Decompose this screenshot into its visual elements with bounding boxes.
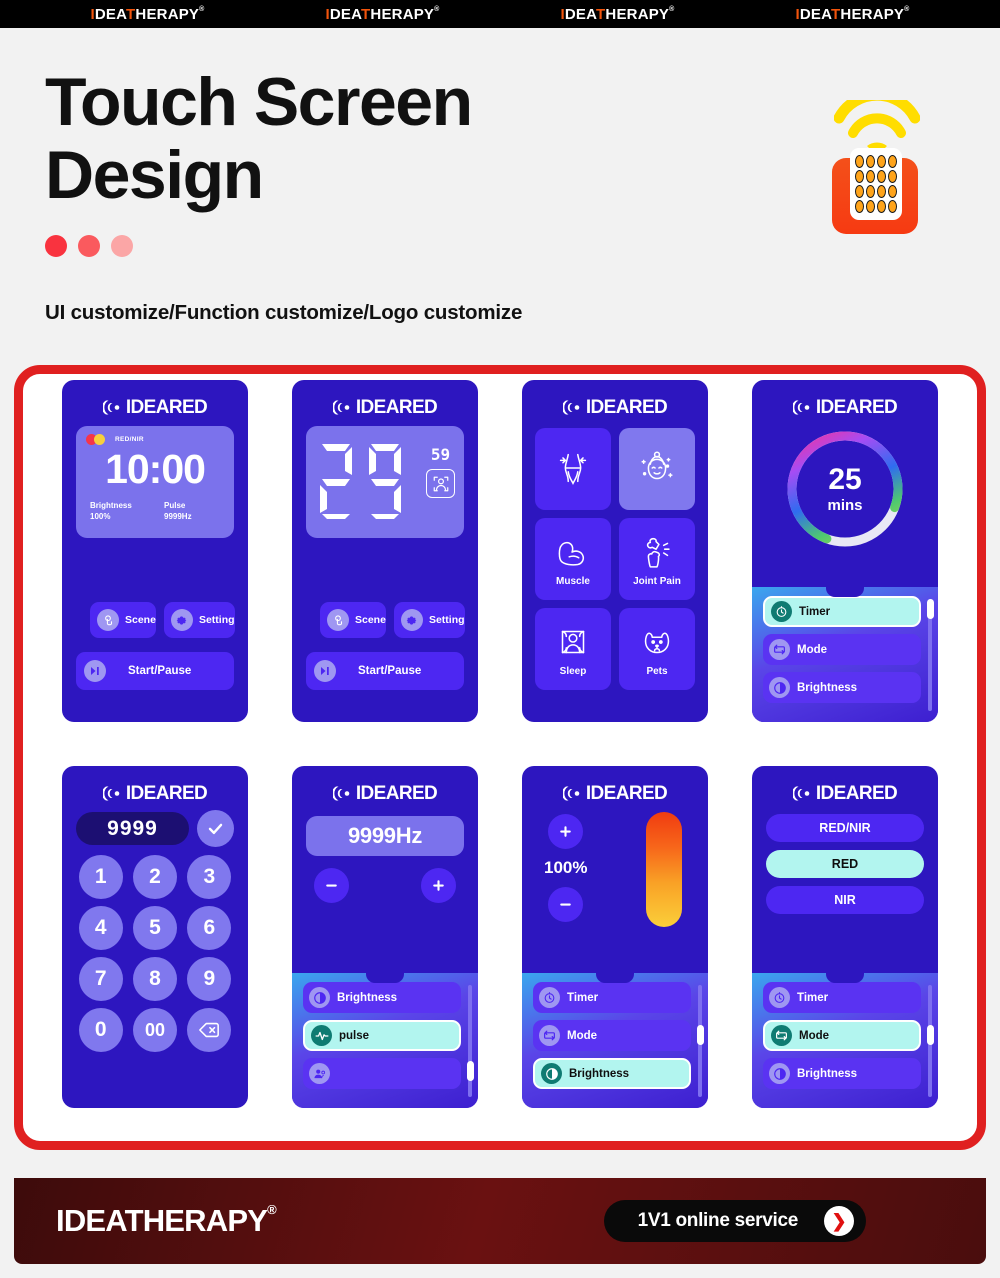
scrollbar-thumb[interactable] (927, 1025, 934, 1045)
signal-wave-icon (563, 785, 582, 802)
lcd-display: 59 (306, 426, 464, 538)
screens-grid: IDEARED RED/NIR 10:00 Brightness 100% Pu… (23, 374, 977, 1108)
action-buttons: Scene Setting (76, 602, 234, 638)
stopwatch-icon (769, 987, 790, 1008)
play-pause-icon (314, 660, 336, 682)
list-item-timer[interactable]: Timer (533, 982, 691, 1013)
gear-icon (171, 609, 193, 631)
numpad-keys: 1 2 3 4 5 6 7 8 9 0 00 (78, 855, 232, 1052)
registered-mark: ® (267, 1202, 276, 1217)
frequency-display: 9999Hz (306, 816, 464, 856)
scene-button[interactable]: Scene (90, 602, 156, 638)
screens-showcase-frame: IDEARED RED/NIR 10:00 Brightness 100% Pu… (14, 365, 986, 1150)
panel-notch (596, 972, 634, 983)
ring-number: 25 (828, 465, 861, 495)
dot-1 (45, 235, 67, 257)
list-item-label: Mode (799, 1030, 829, 1042)
mode-option-red-nir[interactable]: RED/NIR (766, 814, 924, 842)
scrollbar-thumb[interactable] (697, 1025, 704, 1045)
remote-key (888, 155, 897, 168)
numpad-key-00[interactable]: 00 (133, 1008, 177, 1052)
joint-bone-icon (636, 532, 678, 574)
remote-key (866, 155, 875, 168)
muscle-arm-icon (552, 532, 594, 574)
scene-item-label: Joint Pain (633, 576, 681, 587)
footer-brand-text: IDEATHERAPY (56, 1203, 267, 1238)
list-item-label: Timer (797, 992, 828, 1004)
scrollbar-thumb[interactable] (927, 599, 934, 619)
chevron-right-icon: ❯ (824, 1206, 854, 1236)
scene-item-label: Sleep (560, 666, 587, 677)
remote-keypad (850, 148, 902, 220)
list-scrollbar[interactable] (698, 985, 702, 1097)
scene-item-sleep[interactable]: Sleep (535, 608, 611, 690)
brand-logo: IDEATHERAPY® (326, 6, 440, 23)
screen-logo-text: IDEARED (586, 784, 667, 803)
setting-button-label: Setting (199, 614, 235, 626)
remote-key (855, 155, 864, 168)
screen-scene-select[interactable]: IDEARED (522, 380, 708, 722)
numpad-key-1[interactable]: 1 (79, 855, 123, 899)
settings-list-panel: Timer Mode Brightness (522, 973, 708, 1108)
touch-hand-icon (97, 609, 119, 631)
start-pause-label: Start/Pause (128, 665, 191, 677)
screen-pulse-frequency[interactable]: IDEARED 9999Hz Run (292, 766, 478, 1108)
setting-button-label: Setting (429, 614, 465, 626)
signal-wave-icon (333, 785, 352, 802)
decrease-button[interactable] (314, 868, 349, 903)
top-brand-banner: IDEATHERAPY® IDEATHERAPY® IDEATHERAPY® I… (0, 0, 1000, 28)
page-title-line2: Design (45, 139, 665, 212)
remote-control-wifi-icon (812, 100, 942, 250)
numpad-key-3[interactable]: 3 (187, 855, 231, 899)
start-pause-button[interactable]: Start/Pause (76, 652, 234, 690)
stat-brightness: Brightness 100% (86, 501, 150, 523)
page-subtitle: UI customize/Function customize/Logo cus… (45, 301, 955, 325)
page-title-line1: Touch Screen (45, 66, 665, 139)
page-title: Touch Screen Design (45, 66, 665, 213)
setting-button[interactable]: Setting (164, 602, 235, 638)
panel-notch (826, 972, 864, 983)
list-item-brightness[interactable]: Brightness (763, 672, 921, 703)
remote-key (855, 185, 864, 198)
brand-logo: IDEATHERAPY® (561, 6, 675, 23)
start-pause-button[interactable]: Start/Pause (306, 652, 464, 690)
scene-item-face[interactable] (619, 428, 695, 510)
numpad-key-2[interactable]: 2 (133, 855, 177, 899)
lcd-seconds: 59 (427, 442, 454, 464)
numpad-key-5[interactable]: 5 (133, 906, 177, 950)
list-item-label: Mode (797, 644, 827, 656)
scene-item-body[interactable] (535, 428, 611, 510)
scene-item-label: Pets (646, 666, 667, 677)
plus-icon (557, 823, 574, 840)
remote-key (855, 200, 864, 213)
screen-brightness[interactable]: IDEARED 100% Run (522, 766, 708, 1108)
lcd-digits (314, 441, 407, 523)
increase-button[interactable] (548, 814, 583, 849)
ring-unit: mins (827, 497, 862, 514)
mode-indicator: RED/NIR (86, 434, 224, 445)
remote-key (866, 200, 875, 213)
screen-logo-text: IDEARED (126, 784, 207, 803)
signal-wave-icon (793, 785, 812, 802)
list-item-label: Timer (799, 606, 830, 618)
plus-icon (430, 877, 447, 894)
scene-button[interactable]: Scene (320, 602, 386, 638)
body-slimming-icon (552, 447, 594, 489)
users-icon (309, 1063, 330, 1084)
numpad-key-4[interactable]: 4 (79, 906, 123, 950)
remote-key (866, 170, 875, 183)
mode-option-red[interactable]: RED (766, 850, 924, 878)
screen-logo-text: IDEARED (816, 398, 897, 417)
seven-segment-digit (314, 441, 358, 523)
scene-button-label: Scene (125, 614, 156, 626)
screen-logo-text: IDEARED (816, 784, 897, 803)
list-item-brightness[interactable]: Brightness (303, 982, 461, 1013)
half-circle-icon (769, 1063, 790, 1084)
scene-grid: Muscle Joint Pain (535, 428, 695, 690)
scene-button-label: Scene (355, 614, 386, 626)
list-item-mode[interactable]: Mode (763, 634, 921, 665)
mode-option-nir[interactable]: NIR (766, 886, 924, 914)
numpad-key-8[interactable]: 8 (133, 957, 177, 1001)
list-item-label: Brightness (797, 1068, 857, 1080)
card-stats: Brightness 100% Pulse 9999Hz (86, 501, 224, 523)
svg-text:59: 59 (431, 445, 450, 464)
scene-item-joint[interactable]: Joint Pain (619, 518, 695, 600)
list-item-brightness[interactable]: Brightness (533, 1058, 691, 1089)
dog-icon (636, 622, 678, 664)
numpad-key-0[interactable]: 0 (79, 1008, 123, 1052)
remote-key (888, 170, 897, 183)
list-item-mode[interactable]: Mode (763, 1020, 921, 1051)
scene-item-pets[interactable]: Pets (619, 608, 695, 690)
half-circle-icon (309, 987, 330, 1008)
touch-hand-icon (327, 609, 349, 631)
screen-logo-text: IDEARED (586, 398, 667, 417)
screen-timer-ring[interactable]: IDEARED (752, 380, 938, 722)
signal-wave-icon (333, 399, 352, 416)
seven-segment-digit (363, 441, 407, 523)
screen-numpad[interactable]: IDEARED 9999 1 2 3 4 5 6 7 8 9 0 00 (62, 766, 248, 1108)
screen-logo-text: IDEARED (126, 398, 207, 417)
screen-logo: IDEARED (292, 380, 478, 420)
list-item-pulse[interactable]: pulse (303, 1020, 461, 1051)
footer-brand-logo: IDEATHERAPY® (56, 1203, 276, 1239)
list-scrollbar[interactable] (928, 599, 932, 711)
timer-value: 10:00 (86, 449, 224, 490)
signal-wave-icon (563, 399, 582, 416)
screen-logo-text: IDEARED (356, 784, 437, 803)
list-item-mode[interactable]: Mode (533, 1020, 691, 1051)
remote-key (888, 185, 897, 198)
screen-logo: IDEARED (522, 380, 708, 420)
numpad-key-9[interactable]: 9 (187, 957, 231, 1001)
screen-logo: IDEARED (292, 766, 478, 806)
person-frame-icon (426, 469, 455, 498)
setting-button[interactable]: Setting (394, 602, 465, 638)
numpad-key-7[interactable]: 7 (79, 957, 123, 1001)
numpad-backspace-button[interactable] (187, 1008, 231, 1052)
list-item-brightness[interactable]: Brightness (763, 1058, 921, 1089)
increase-button[interactable] (421, 868, 456, 903)
gear-icon (401, 609, 423, 631)
page-footer: IDEATHERAPY® 1V1 online service ❯ (14, 1178, 986, 1264)
panel-notch (366, 972, 404, 983)
list-scrollbar[interactable] (928, 985, 932, 1097)
half-circle-icon (769, 677, 790, 698)
backspace-icon (198, 1019, 220, 1041)
brand-logo: IDEATHERAPY® (91, 6, 205, 23)
panel-notch (826, 586, 864, 597)
list-item-label: Brightness (797, 682, 857, 694)
half-circle-icon (541, 1063, 562, 1084)
lcd-side-info: 59 (426, 442, 455, 498)
stat-label: Brightness (90, 501, 150, 512)
remote-key (877, 170, 886, 183)
remote-key (877, 200, 886, 213)
ring-center-value: 25 mins (782, 426, 908, 552)
start-pause-label: Start/Pause (358, 665, 421, 677)
list-item-timer[interactable]: Timer (763, 982, 921, 1013)
scrollbar-thumb[interactable] (467, 1061, 474, 1081)
list-item-label: pulse (339, 1030, 369, 1042)
scene-item-label: Muscle (556, 576, 590, 587)
list-item-label: Brightness (337, 992, 397, 1004)
remote-key (866, 185, 875, 198)
numpad-display[interactable]: 9999 (76, 812, 189, 845)
numpad-key-6[interactable]: 6 (187, 906, 231, 950)
decrease-button[interactable] (548, 887, 583, 922)
list-item-label: Timer (567, 992, 598, 1004)
scene-item-muscle[interactable]: Muscle (535, 518, 611, 600)
screen-home-timer[interactable]: IDEARED RED/NIR 10:00 Brightness 100% Pu… (62, 380, 248, 722)
remote-key (877, 185, 886, 198)
mode-swap-icon (769, 639, 790, 660)
minus-icon (557, 896, 574, 913)
remote-key (877, 155, 886, 168)
stat-value: 9999Hz (164, 512, 224, 523)
screen-logo: IDEARED (752, 380, 938, 420)
brightness-slider[interactable] (646, 812, 682, 927)
numpad-header: 9999 (76, 810, 234, 847)
settings-list-panel: Brightness pulse (292, 973, 478, 1108)
mode-swap-icon (771, 1025, 792, 1046)
check-icon (206, 819, 225, 838)
screen-logo: IDEARED (62, 380, 248, 420)
play-pause-icon (84, 660, 106, 682)
screen-logo: IDEARED (62, 766, 248, 806)
timer-ring[interactable]: 25 mins (782, 426, 908, 552)
screen-mode-select[interactable]: IDEARED RED/NIR RED NIR Run (752, 766, 938, 1108)
list-item-label: Brightness (569, 1068, 629, 1080)
list-scrollbar[interactable] (468, 985, 472, 1097)
list-item-timer[interactable]: Timer (763, 596, 921, 627)
frequency-steppers (314, 868, 456, 903)
stat-label: Pulse (164, 501, 224, 512)
settings-list-panel: Timer Mode Brightness (752, 587, 938, 722)
screen-logo-text: IDEARED (356, 398, 437, 417)
screen-lcd-countdown[interactable]: IDEARED (292, 380, 478, 722)
list-item-users[interactable] (303, 1058, 461, 1089)
screen-logo: IDEARED (752, 766, 938, 806)
stat-value: 100% (90, 512, 150, 523)
remote-key (888, 200, 897, 213)
brightness-steppers: 100% (544, 814, 587, 922)
dot-2 (78, 235, 100, 257)
stopwatch-icon (539, 987, 560, 1008)
red-nir-dots-icon (86, 434, 110, 445)
sleep-bed-icon (552, 622, 594, 664)
face-beauty-icon (636, 447, 678, 489)
screen-logo: IDEARED (522, 766, 708, 806)
stopwatch-icon (771, 601, 792, 622)
stat-pulse: Pulse 9999Hz (150, 501, 224, 523)
page-header: Touch Screen Design UI customize/Functio… (0, 28, 1000, 358)
confirm-button[interactable] (197, 810, 234, 847)
online-service-label: 1V1 online service (638, 1210, 798, 1232)
signal-wave-icon (793, 399, 812, 416)
list-item-label: Mode (567, 1030, 597, 1042)
brightness-value: 100% (544, 858, 587, 878)
dot-3 (111, 235, 133, 257)
mode-swap-icon (539, 1025, 560, 1046)
online-service-button[interactable]: 1V1 online service ❯ (604, 1200, 866, 1242)
pulse-wave-icon (311, 1025, 332, 1046)
status-card: RED/NIR 10:00 Brightness 100% Pulse 9999… (76, 426, 234, 538)
remote-key (855, 170, 864, 183)
minus-icon (323, 877, 340, 894)
settings-list-panel: Timer Mode Brightness (752, 973, 938, 1108)
brand-logo: IDEATHERAPY® (796, 6, 910, 23)
action-buttons: Scene Setting (306, 602, 464, 638)
mode-label: RED/NIR (115, 436, 144, 443)
signal-wave-icon (103, 785, 122, 802)
signal-wave-icon (103, 399, 122, 416)
